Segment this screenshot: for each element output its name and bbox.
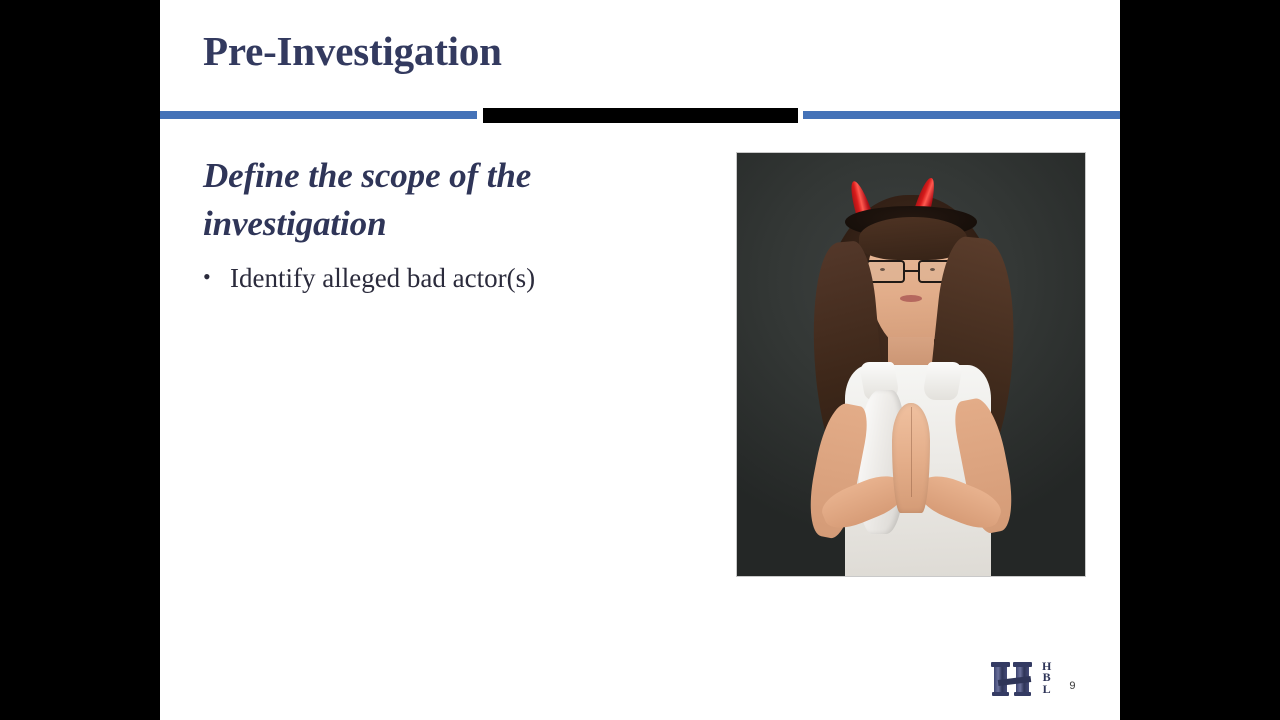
page-title: Pre-Investigation [203, 27, 502, 75]
list-item-label: Identify alleged bad actor(s) [230, 261, 673, 296]
bullet-point-icon: • [203, 261, 230, 293]
column-base-right [1014, 692, 1031, 696]
letterbox-right [1120, 0, 1280, 720]
hbl-columns-logo-icon [992, 662, 1038, 696]
divider-segment-black-mid [483, 108, 798, 123]
subheading: Define the scope of the investigation [203, 152, 673, 247]
slide-body: Define the scope of the investigation • … [203, 152, 673, 296]
divider-segment-blue-left [160, 111, 477, 119]
page-number: 9 [1069, 680, 1075, 692]
slide-viewer: Pre-Investigation Define the scope of th… [0, 0, 1280, 720]
logo-letter-l: L [1043, 684, 1051, 695]
column-base-left [992, 692, 1009, 696]
footer: H B L 9 [992, 661, 1075, 696]
presentation-slide: Pre-Investigation Define the scope of th… [160, 0, 1120, 720]
lens-bridge [905, 270, 919, 273]
letterbox-left [0, 0, 160, 720]
bullet-list: • Identify alleged bad actor(s) [203, 261, 673, 296]
collar-right [922, 362, 964, 400]
list-item: • Identify alleged bad actor(s) [203, 261, 673, 296]
praying-hands-icon [892, 403, 930, 513]
devil-horns-woman-photo [737, 153, 1085, 576]
divider-segment-blue-right [803, 111, 1120, 119]
logo-letters: H B L [1042, 661, 1051, 695]
title-divider [160, 108, 1120, 123]
slide-image [736, 152, 1086, 577]
